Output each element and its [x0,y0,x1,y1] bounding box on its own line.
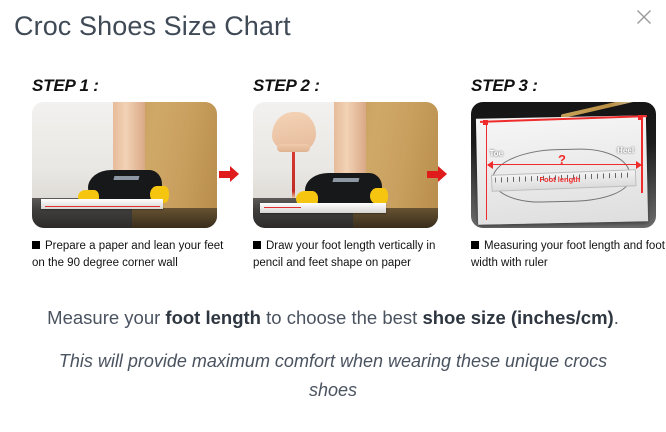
question-mark-label: ? [558,152,566,167]
shoe-stripe [114,176,140,180]
step-2-caption: Draw your foot length vertically in penc… [253,238,448,272]
arrow-right-icon-2 [427,166,447,182]
red-corner-dot-right [638,115,643,120]
paper-sheet [41,199,163,209]
close-button[interactable] [632,5,656,29]
heel-label: Heel [617,146,634,155]
measure-part-1: Measure your [47,307,165,328]
step-2-photo [253,102,438,228]
measure-part-2: to choose the best [261,307,422,328]
step-1-photo [32,102,217,228]
comfort-note: This will provide maximum comfort when w… [33,347,633,405]
step-panel-1: STEP 1 : Prepare a paper and lean your f… [25,76,227,291]
page-title: Croc Shoes Size Chart [14,11,291,42]
measure-bold-foot-length: foot length [165,307,261,328]
step-panel-3: STEP 3 : Toe Heel ? Foot length Measurin [464,76,666,291]
measure-part-3: . [614,307,619,328]
steps-row: STEP 1 : Prepare a paper and lean your f… [0,76,666,291]
red-line-left [486,120,488,221]
arrow-head [438,166,447,182]
sock-heel-yellow [370,188,389,204]
measure-instruction-line: Measure your foot length to choose the b… [0,305,666,331]
modal-header: Croc Shoes Size Chart [0,0,666,62]
leg [334,102,365,180]
cardboard-reflection [132,208,217,228]
red-corner-dot-left [483,120,488,125]
step-1-label: STEP 1 : [32,76,227,96]
step-3-caption-text: Measuring your foot length and foot widt… [471,240,665,269]
foot-length-label: Foot length [539,175,580,184]
step-3-caption: Measuring your foot length and foot widt… [471,238,666,272]
step-panel-2: STEP 2 : Draw your foot length verticall… [246,76,448,291]
bullet-square-icon [32,241,40,249]
red-line-right [641,115,643,193]
finger [277,144,310,153]
arrow-right-icon-1 [219,166,239,182]
step-3-photo: Toe Heel ? Foot length [471,102,656,228]
step-3-label: STEP 3 : [471,76,666,96]
leg [113,102,144,180]
paper-sheet [260,203,386,213]
bullet-square-icon [253,241,261,249]
measure-bold-shoe-size: shoe size (inches/cm) [422,307,613,328]
step-1-caption: Prepare a paper and lean your feet on th… [32,238,227,272]
arrow-head [230,166,239,182]
toe-label: Toe [490,149,504,158]
shoe-stripe [332,178,359,182]
close-icon [635,8,653,26]
paper-red-line [45,206,160,207]
step-2-caption-text: Draw your foot length vertically in penc… [253,240,435,269]
paper-sheet [475,115,647,224]
pencil [292,152,295,197]
bullet-square-icon [471,241,479,249]
paper-red-line [264,207,301,208]
step-2-label: STEP 2 : [253,76,448,96]
step-1-caption-text: Prepare a paper and lean your feet on th… [32,240,223,269]
